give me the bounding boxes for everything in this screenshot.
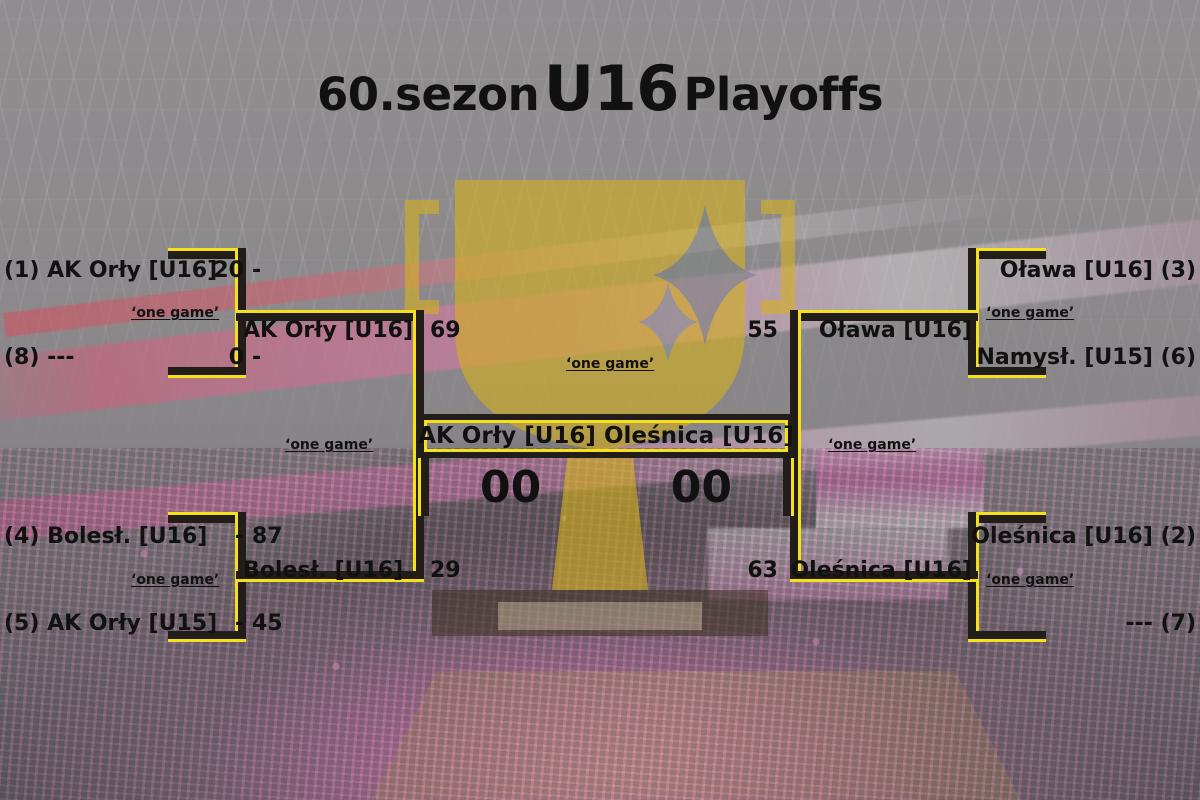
final-team-names: AK Orły [U16] Oleśnica [U16]: [418, 420, 794, 452]
team-name: Namysł. [U15]: [977, 345, 1153, 370]
title-category: U16: [544, 52, 679, 125]
qf-bottom-right-team2-score: -: [235, 611, 244, 636]
seed-label: (7): [1161, 611, 1196, 636]
team-name: ---: [47, 345, 74, 370]
seed-label: (6): [1161, 345, 1196, 370]
title-season: 60.sezon: [317, 68, 539, 121]
qf-bottom-right-team1-score: -: [235, 524, 244, 549]
qf-bottom-left-team1-seed: (4) Bolesł. [U16]: [4, 524, 207, 549]
final-frame-edge-left: [418, 458, 429, 516]
team-name: ---: [1126, 611, 1153, 636]
sf-right-note: ‘one game’: [828, 437, 916, 453]
qf-bottom-right-team2-seed: --- (7): [1126, 611, 1197, 636]
qf-top-right-team2-score: 0: [229, 345, 244, 370]
sf-right-team1-name: Oława [U16]: [819, 318, 972, 343]
qf-top-right-team2-seed: Namysł. [U15] (6): [977, 345, 1196, 370]
sf-right-team1-score: 55: [747, 318, 778, 343]
sf-left-team2-score: 29: [430, 558, 461, 583]
seed-label: (8): [4, 345, 39, 370]
final-team2-score: 00: [671, 462, 732, 513]
qf-top-left-team1-score: -: [252, 258, 261, 283]
sf-left-team1-name: AK Orły [U16]: [243, 318, 413, 343]
sf-right-team2-score: 63: [747, 558, 778, 583]
qf-top-right-note: ‘one game’: [986, 305, 1074, 321]
team-name: Oleśnica [U16]: [971, 524, 1153, 549]
team-name: AK Orły [U15]: [47, 611, 217, 636]
seed-label: (4): [4, 524, 39, 549]
qf-bottom-right-team1-seed: Oleśnica [U16] (2): [971, 524, 1196, 549]
seed-label: (5): [4, 611, 39, 636]
qf-bottom-left-team2-score: 45: [252, 611, 283, 636]
sf-left-team1-score: 69: [430, 318, 461, 343]
sf-right-team2-name: Oleśnica [U16]: [790, 558, 972, 583]
sf-left-note: ‘one game’: [285, 437, 373, 453]
qf-top-left-note: ‘one game’: [131, 305, 219, 321]
title-stage: Playoffs: [683, 68, 883, 121]
final-team1-name: AK Orły [U16]: [418, 423, 596, 449]
final-score-frame: 00 00: [418, 458, 794, 516]
team-name: Oława [U16]: [1000, 258, 1153, 283]
qf-top-right-team1-score: 20: [213, 258, 244, 283]
qf-top-left-team2-seed: (8) ---: [4, 345, 75, 370]
sf-left-team2-name: Bolesł. [U16]: [243, 558, 403, 583]
seed-label: (3): [1161, 258, 1196, 283]
qf-top-left-team1-seed: (1) AK Orły [U16]: [4, 258, 217, 283]
seed-label: (1): [4, 258, 39, 283]
final-team1-score: 00: [480, 462, 541, 513]
qf-bottom-right-note: ‘one game’: [986, 572, 1074, 588]
final-note: ‘one game’: [566, 356, 654, 372]
final-team2-name: Oleśnica [U16]: [604, 423, 794, 449]
qf-top-right-team1-seed: Oława [U16] (3): [1000, 258, 1196, 283]
bracket-board: 60.sezon U16 Playoffs (1) AK Orły [U16] …: [0, 0, 1200, 800]
final-frame-edge-right: [783, 458, 794, 516]
bracket-bar-bottom: [968, 631, 1046, 642]
qf-bottom-left-note: ‘one game’: [131, 572, 219, 588]
seed-label: (2): [1161, 524, 1196, 549]
page-title: 60.sezon U16 Playoffs: [0, 52, 1200, 125]
qf-bottom-left-team2-seed: (5) AK Orły [U15]: [4, 611, 217, 636]
team-name: AK Orły [U16]: [47, 258, 217, 283]
team-name: Bolesł. [U16]: [47, 524, 207, 549]
bracket-bar-top: [968, 512, 1046, 523]
final-match-box: AK Orły [U16] Oleśnica [U16] 00 00: [418, 414, 794, 516]
